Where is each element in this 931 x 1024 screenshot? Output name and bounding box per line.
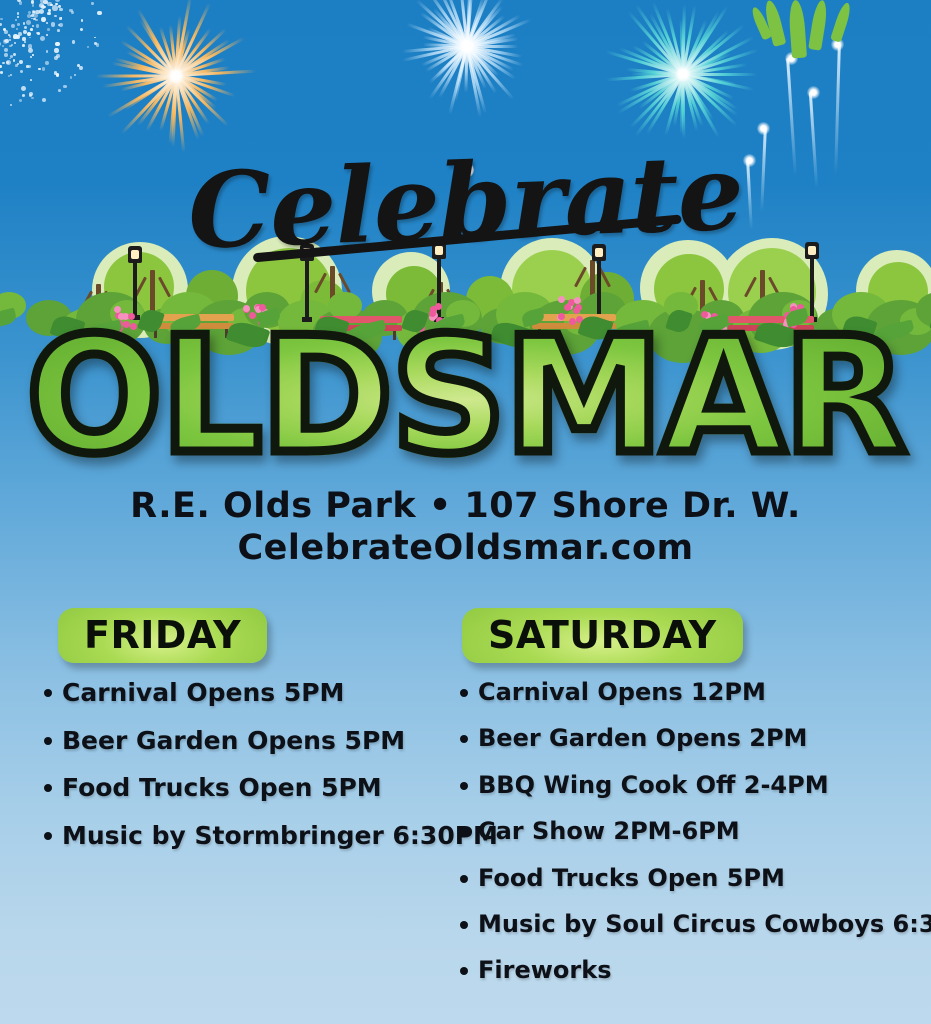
- list-item: Food Trucks Open 5PM: [452, 865, 922, 891]
- website-line[interactable]: CelebrateOldsmar.com: [0, 528, 931, 568]
- page-title: OLDSMAR OLDSMAR: [0, 316, 931, 476]
- event-poster: Celebrate OLDSMAR OLDSMAR R.E. Olds Park…: [0, 0, 931, 1024]
- list-item: Fireworks: [452, 957, 922, 983]
- event-list-friday: Carnival Opens 5PMBeer Garden Opens 5PMF…: [36, 679, 456, 849]
- schedule-column-friday: FRIDAY Carnival Opens 5PMBeer Garden Ope…: [36, 608, 456, 869]
- firework-burst-teal-icon: [682, 73, 684, 75]
- list-item: Music by Stormbringer 6:30PM: [36, 822, 456, 850]
- event-list-saturday: Carnival Opens 12PMBeer Garden Opens 2PM…: [452, 679, 922, 984]
- day-label-friday: FRIDAY: [84, 616, 241, 654]
- firework-burst-white-icon: [466, 45, 468, 47]
- day-badge-friday: FRIDAY: [58, 608, 267, 663]
- schedule-column-saturday: SATURDAY Carnival Opens 12PMBeer Garden …: [452, 608, 922, 1004]
- day-badge-saturday: SATURDAY: [462, 608, 743, 663]
- list-item: Beer Garden Opens 5PM: [36, 727, 456, 755]
- firework-dots-far-right-icon: [0, 8, 2, 10]
- list-item: Carnival Opens 12PM: [452, 679, 922, 705]
- page-title-outline: OLDSMAR: [26, 302, 904, 489]
- list-item: Car Show 2PM-6PM: [452, 818, 922, 844]
- firework-burst-gold-icon: [175, 75, 177, 77]
- list-item: BBQ Wing Cook Off 2-4PM: [452, 772, 922, 798]
- venue-line: R.E. Olds Park • 107 Shore Dr. W.: [0, 486, 931, 526]
- list-item: Music by Soul Circus Cowboys 6:30PM: [452, 911, 922, 937]
- list-item: Food Trucks Open 5PM: [36, 774, 456, 802]
- day-label-saturday: SATURDAY: [488, 616, 717, 654]
- list-item: Carnival Opens 5PM: [36, 679, 456, 707]
- schedule: FRIDAY Carnival Opens 5PMBeer Garden Ope…: [0, 608, 931, 1024]
- list-item: Beer Garden Opens 2PM: [452, 725, 922, 751]
